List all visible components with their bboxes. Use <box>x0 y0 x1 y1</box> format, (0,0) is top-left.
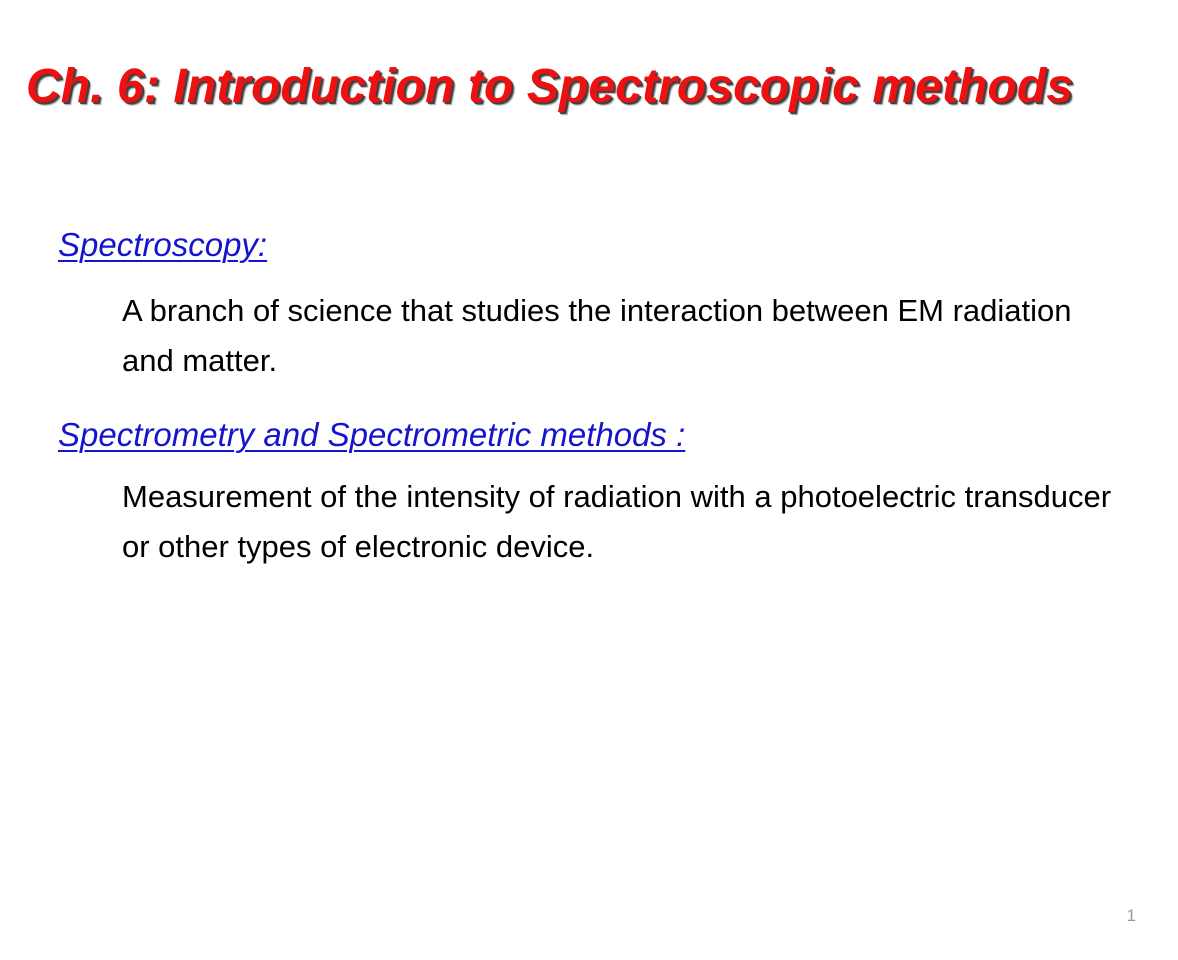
spacer <box>58 456 1118 472</box>
spacer <box>58 386 1118 414</box>
page-title: Ch. 6: Introduction to Spectroscopic met… <box>26 58 1156 116</box>
section-heading-spectroscopy: Spectroscopy: <box>58 224 1118 266</box>
section-body-spectroscopy: A branch of science that studies the int… <box>58 286 1118 386</box>
section-heading-spectrometry: Spectrometry and Spectrometric methods : <box>58 414 1118 456</box>
slide-canvas: Ch. 6: Introduction to Spectroscopic met… <box>0 0 1178 960</box>
slide-body: Spectroscopy: A branch of science that s… <box>58 224 1118 572</box>
section-body-spectrometry: Measurement of the intensity of radiatio… <box>58 472 1118 572</box>
spacer <box>58 266 1118 286</box>
page-number: 1 <box>1127 906 1136 926</box>
